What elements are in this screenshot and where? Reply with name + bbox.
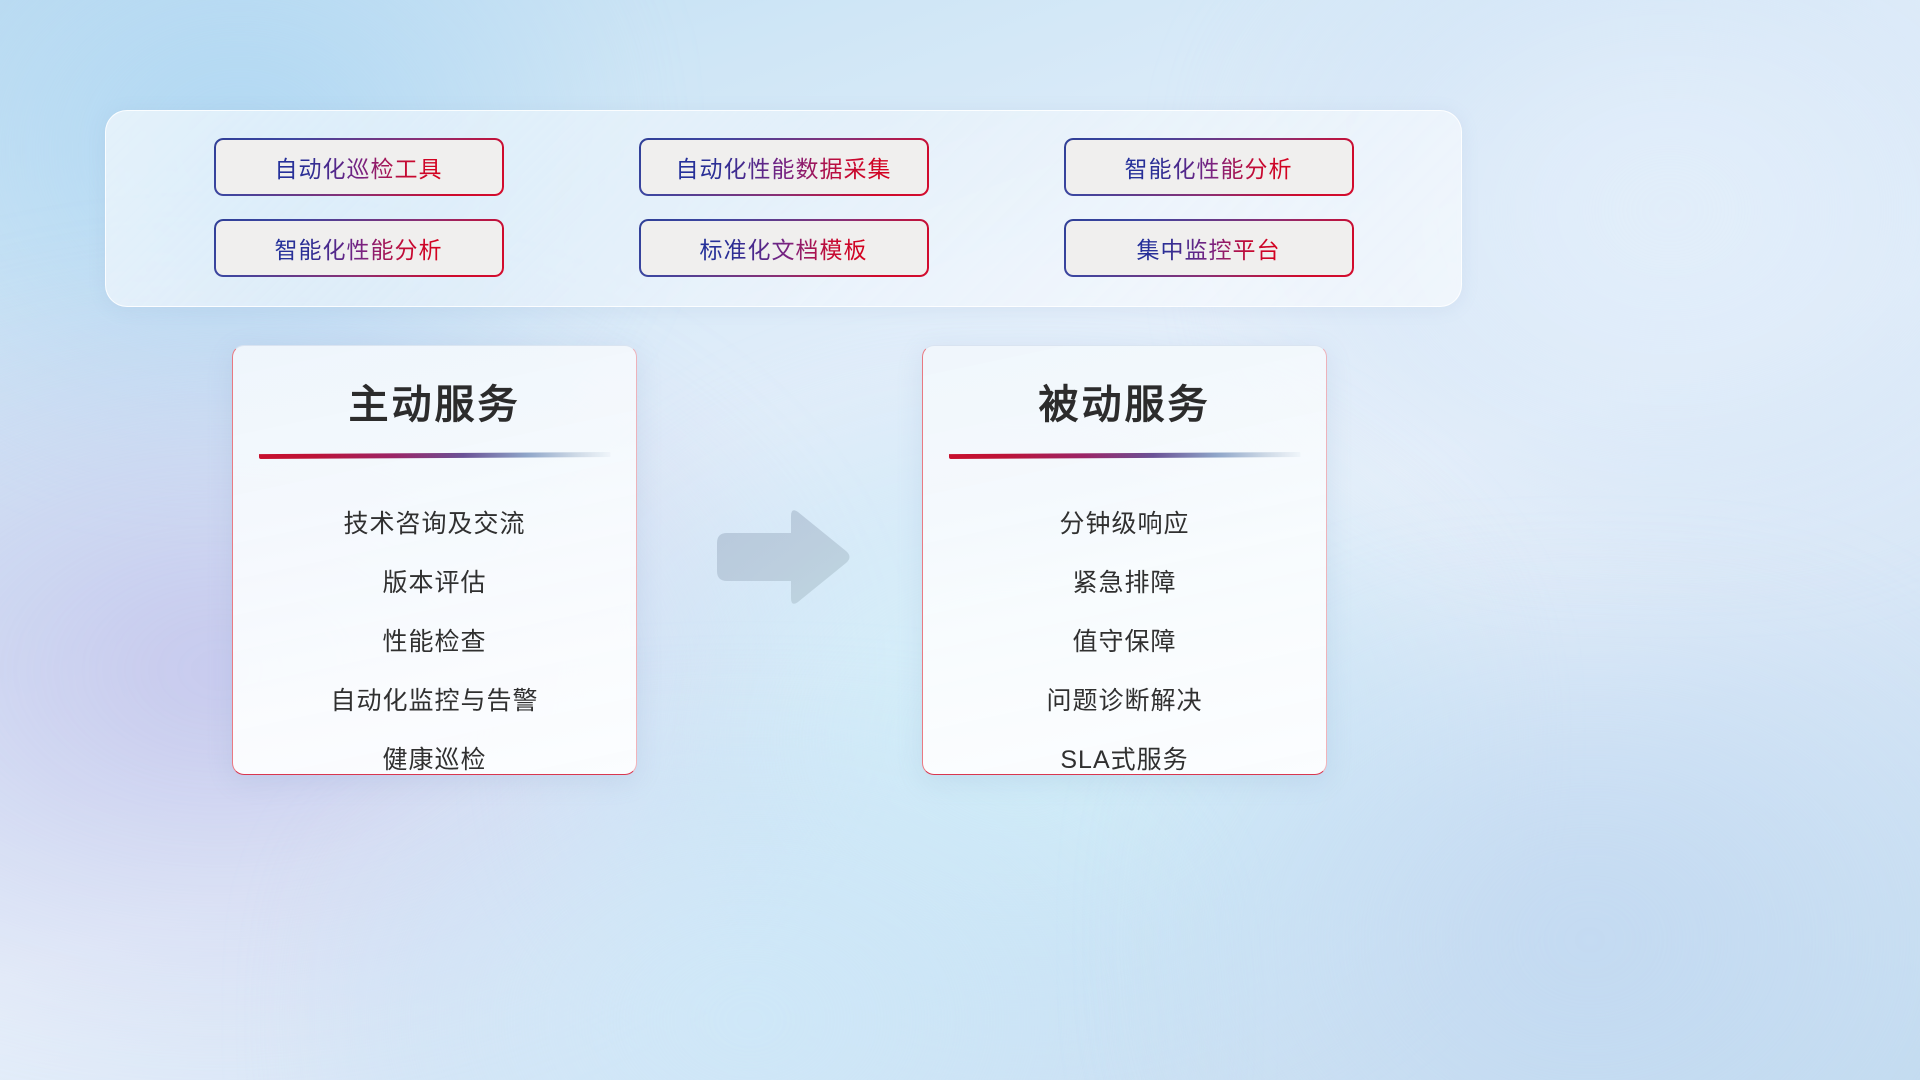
tool-pill-central-monitoring[interactable]: 集中监控平台 (1064, 219, 1354, 277)
tools-grid: 自动化巡检工具 自动化性能数据采集 智能化性能分析 智能化性能分析 标准化文档模… (106, 111, 1461, 306)
card-divider (259, 452, 611, 459)
card-divider (949, 452, 1301, 459)
tool-pill-label: 智能化性能分析 (1125, 150, 1293, 184)
capability-tools-panel: 自动化巡检工具 自动化性能数据采集 智能化性能分析 智能化性能分析 标准化文档模… (105, 110, 1462, 307)
list-item: 分钟级响应 (1059, 495, 1189, 554)
list-item: 紧急排障 (1072, 554, 1176, 613)
card-divider-bar (259, 452, 611, 459)
card-title: 被动服务 (923, 372, 1326, 430)
list-item: 健康巡检 (382, 731, 486, 775)
list-item: 性能检查 (382, 613, 486, 672)
flow-arrow (713, 505, 853, 610)
arrow-right-icon (713, 505, 853, 610)
tool-pill-label: 标准化文档模板 (700, 231, 868, 265)
tool-pill-automated-inspection[interactable]: 自动化巡检工具 (214, 138, 504, 196)
list-item: 版本评估 (382, 554, 486, 613)
tool-pill-label: 自动化巡检工具 (275, 150, 443, 184)
service-list: 分钟级响应 紧急排障 值守保障 问题诊断解决 SLA式服务 (923, 495, 1326, 775)
list-item: 值守保障 (1072, 613, 1176, 672)
tool-pill-document-template[interactable]: 标准化文档模板 (639, 219, 929, 277)
tool-pill-label: 自动化性能数据采集 (676, 150, 892, 184)
tool-pill-label: 智能化性能分析 (275, 231, 443, 265)
list-item: 自动化监控与告警 (330, 672, 538, 731)
list-item: 问题诊断解决 (1046, 672, 1202, 731)
service-card-proactive: 主动服务 技术咨询及交流 版本评估 性能检查 自动化监控与告警 健康巡检 (232, 345, 637, 775)
card-divider-bar (949, 452, 1301, 459)
tool-pill-intelligent-analysis-2[interactable]: 智能化性能分析 (214, 219, 504, 277)
card-title: 主动服务 (233, 372, 636, 430)
list-item: SLA式服务 (1060, 731, 1188, 775)
tool-pill-label: 集中监控平台 (1137, 231, 1281, 265)
list-item: 技术咨询及交流 (343, 495, 525, 554)
tool-pill-performance-collection[interactable]: 自动化性能数据采集 (639, 138, 929, 196)
service-list: 技术咨询及交流 版本评估 性能检查 自动化监控与告警 健康巡检 (233, 495, 636, 775)
service-card-reactive: 被动服务 分钟级响应 紧急排障 值守保障 问题诊断解决 SLA式服务 (922, 345, 1327, 775)
tool-pill-intelligent-analysis[interactable]: 智能化性能分析 (1064, 138, 1354, 196)
